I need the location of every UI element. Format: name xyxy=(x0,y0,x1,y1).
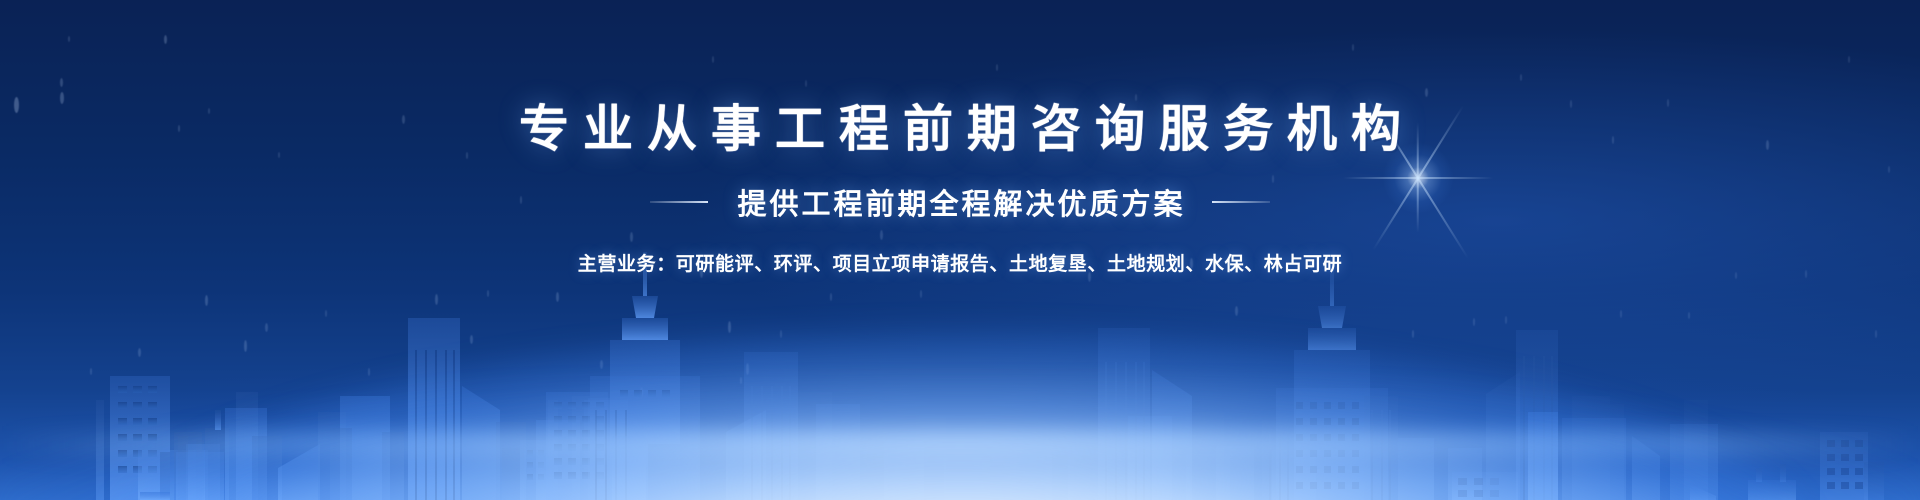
banner-subheadline-row: 提供工程前期全程解决优质方案 xyxy=(650,181,1269,223)
decorative-rule-left-icon xyxy=(650,201,708,203)
decorative-rule-right-icon xyxy=(1212,201,1270,203)
banner-headline: 专业从事工程前期咨询服务机构 xyxy=(505,104,1415,154)
banner-services-line: 主营业务：可研能评、环评、项目立项申请报告、土地复垦、土地规划、水保、林占可研 xyxy=(578,249,1342,276)
banner-content: 专业从事工程前期咨询服务机构 提供工程前期全程解决优质方案 主营业务：可研能评、… xyxy=(0,0,1920,500)
hero-banner: 专业从事工程前期咨询服务机构 提供工程前期全程解决优质方案 主营业务：可研能评、… xyxy=(0,0,1920,500)
banner-subheadline: 提供工程前期全程解决优质方案 xyxy=(734,181,1185,223)
